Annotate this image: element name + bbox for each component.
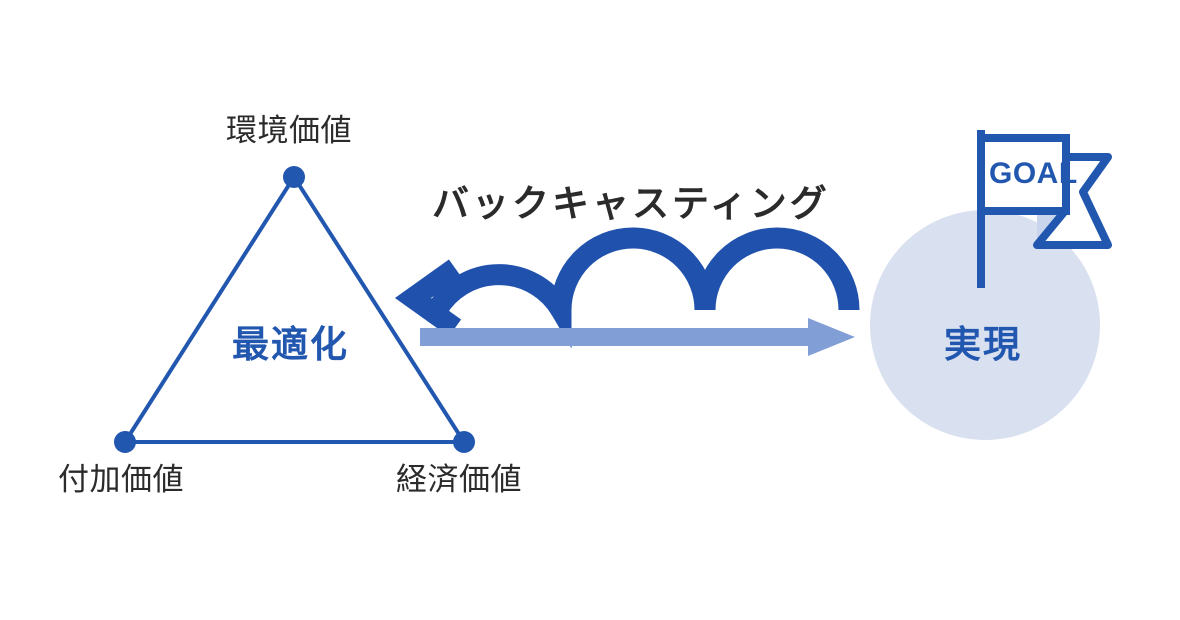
triangle-vertex-apex [283,166,305,188]
triangle-center-label: 最適化 [232,326,349,363]
triangle-apex-label: 環境価値 [226,115,352,146]
backcasting-label: バックキャスティング [432,185,830,222]
diagram-canvas: 環境価値 付加価値 経済価値 最適化 バックキャスティング GOAL 実現 [0,0,1180,620]
backcasting-arc-arrow [413,238,849,328]
diagram-vector-layer [0,0,1180,620]
triangle-vertex-bottom-left [114,431,136,453]
goal-flag-text: GOAL [989,159,1078,189]
forward-arrow [420,318,855,356]
triangle-bottom-left-label: 付加価値 [58,464,184,495]
triangle-vertex-bottom-right [453,431,475,453]
triangle-bottom-right-label: 経済価値 [396,464,522,495]
realization-label: 実現 [944,326,1022,363]
